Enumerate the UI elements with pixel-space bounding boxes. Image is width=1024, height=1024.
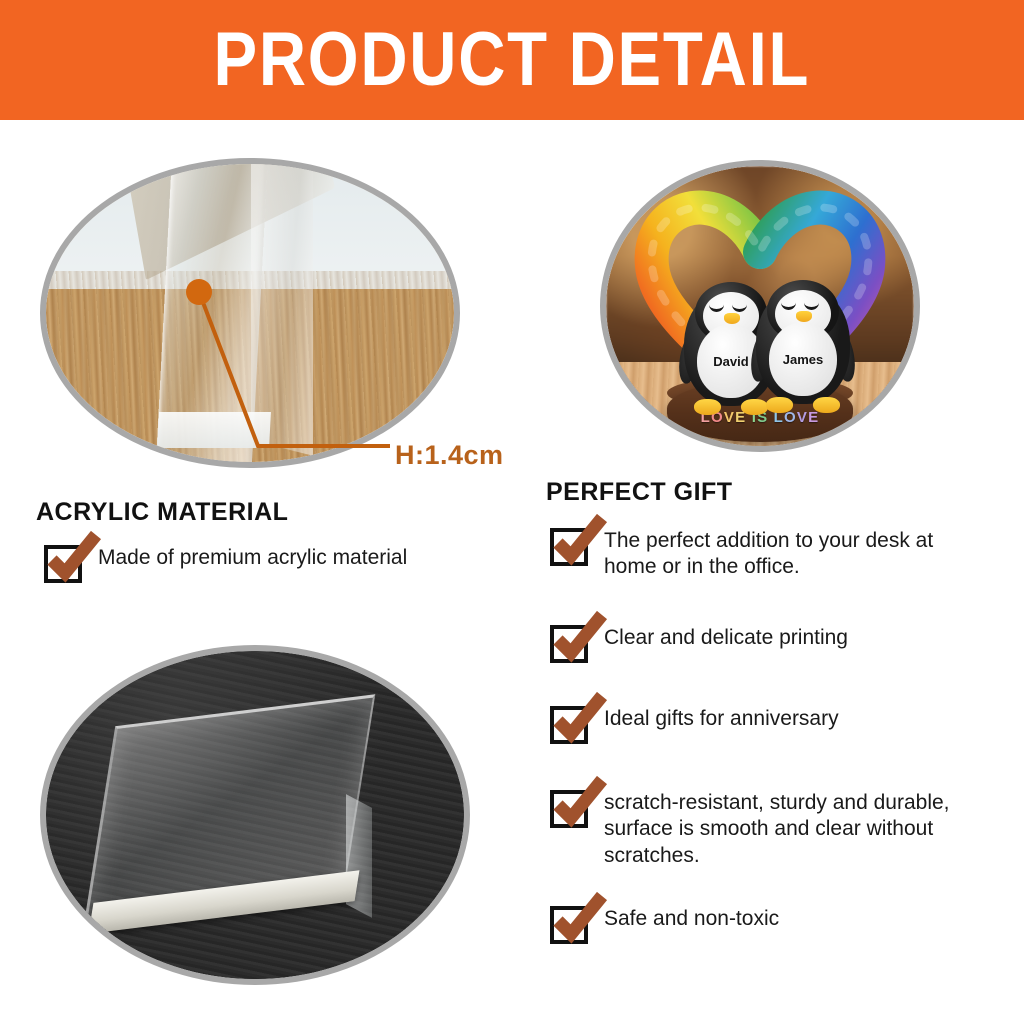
- checkbox-icon[interactable]: [550, 790, 588, 828]
- penguin-foot-left: [694, 399, 721, 415]
- checkbox-icon[interactable]: [550, 528, 588, 566]
- base-label-letter: V: [724, 409, 735, 426]
- feature-text: scratch-resistant, sturdy and durable, s…: [604, 790, 990, 869]
- checkmark-icon: [552, 894, 608, 944]
- feature-item-acrylic-0: Made of premium acrylic material: [44, 545, 514, 583]
- product-detail-page: PRODUCT DETAIL H:1.4cm: [0, 0, 1024, 1024]
- penguin-name-right: James: [783, 352, 823, 367]
- photo-penguin-figurine: LOVE iS LOVE David: [600, 160, 920, 452]
- page-header-banner: PRODUCT DETAIL: [0, 0, 1024, 120]
- checkmark-icon: [552, 778, 608, 828]
- section-title-acrylic-material: ACRYLIC MATERIAL: [36, 498, 288, 527]
- checkbox-icon[interactable]: [550, 706, 588, 744]
- feature-item-gift-0: The perfect addition to your desk at hom…: [550, 528, 990, 581]
- base-label-letter: V: [797, 409, 808, 426]
- photo-acrylic-block-on-slate-inner: [46, 651, 464, 979]
- checkmark-icon: [552, 613, 608, 663]
- feature-item-gift-4: Safe and non-toxic: [550, 906, 990, 944]
- feature-text: Safe and non-toxic: [604, 906, 779, 932]
- penguin-figure-right: James: [756, 286, 850, 404]
- acrylic-block-base-highlight: [157, 412, 271, 448]
- feature-item-gift-3: scratch-resistant, sturdy and durable, s…: [550, 790, 990, 869]
- checkmark-icon: [552, 516, 608, 566]
- feature-text: The perfect addition to your desk at hom…: [604, 528, 990, 581]
- penguin-foot-left: [766, 397, 793, 413]
- checkbox-icon[interactable]: [550, 906, 588, 944]
- photo-penguin-figurine-inner: LOVE iS LOVE David: [606, 166, 914, 446]
- checkbox-icon[interactable]: [550, 625, 588, 663]
- dimension-label-height: H:1.4cm: [395, 440, 504, 471]
- photo-acrylic-block-edge: [40, 158, 460, 468]
- feature-item-gift-2: Ideal gifts for anniversary: [550, 706, 990, 744]
- feature-item-gift-1: Clear and delicate printing: [550, 625, 990, 663]
- feature-text: Made of premium acrylic material: [98, 545, 407, 571]
- feature-text: Ideal gifts for anniversary: [604, 706, 839, 732]
- penguin-name-left: David: [713, 354, 748, 369]
- photo-acrylic-block-on-slate: [40, 645, 470, 985]
- checkmark-icon: [552, 694, 608, 744]
- feature-text: Clear and delicate printing: [604, 625, 848, 651]
- checkmark-icon: [46, 533, 102, 583]
- photo-acrylic-block-edge-inner: [46, 164, 454, 462]
- page-title: PRODUCT DETAIL: [214, 22, 811, 98]
- penguin-beak: [724, 313, 740, 324]
- penguin-beak: [796, 311, 812, 322]
- penguin-foot-right: [813, 397, 840, 413]
- checkbox-icon[interactable]: [44, 545, 82, 583]
- section-title-perfect-gift: PERFECT GIFT: [546, 478, 733, 507]
